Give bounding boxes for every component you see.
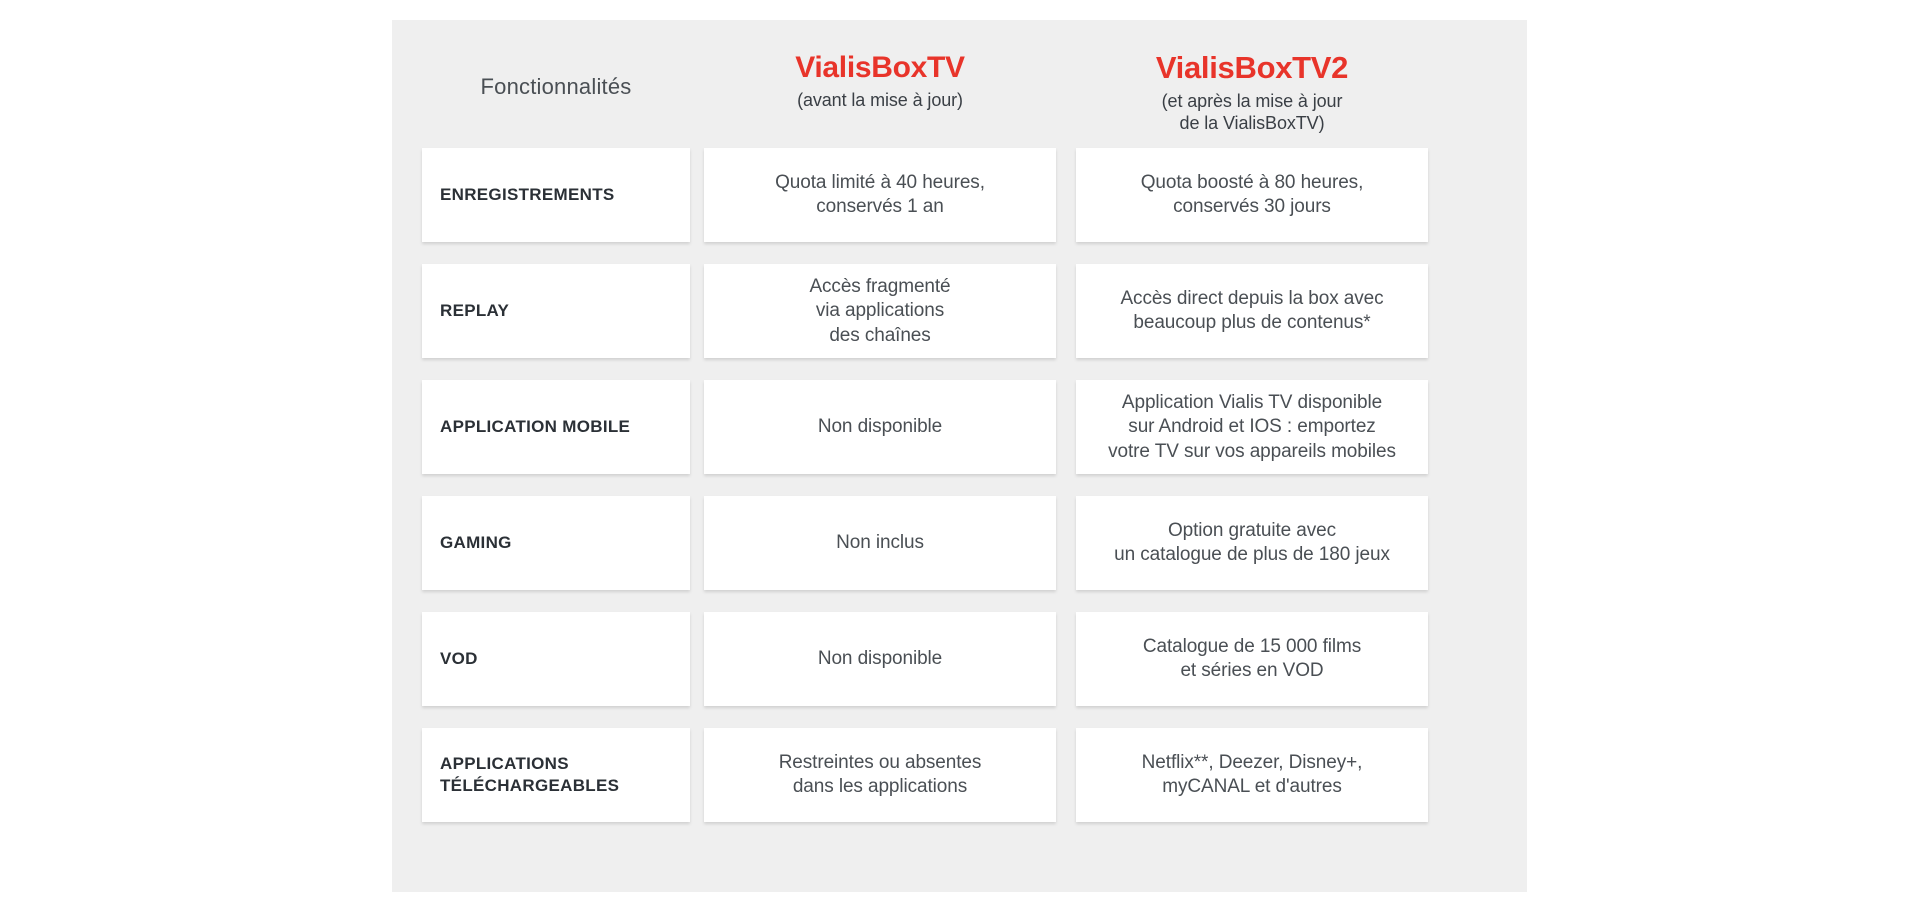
table-row: APPLICATIONS TÉLÉCHARGEABLES Restreintes…: [392, 728, 1527, 822]
feature-cell: ENREGISTREMENTS: [422, 148, 690, 242]
feature-label: VOD: [440, 648, 478, 670]
header-cell-vialisboxtv2: VialisBoxTV2 (et après la mise à jour de…: [1076, 52, 1428, 134]
cell-text: Catalogue de 15 000 films et séries en V…: [1143, 635, 1361, 684]
header-cell-features: Fonctionnalités: [422, 52, 690, 100]
table-row: VOD Non disponible Catalogue de 15 000 f…: [392, 612, 1527, 706]
feature-cell: REPLAY: [422, 264, 690, 358]
table-header-row: Fonctionnalités VialisBoxTV (avant la mi…: [392, 20, 1527, 134]
feature-label: APPLICATIONS TÉLÉCHARGEABLES: [440, 753, 619, 798]
table-body: ENREGISTREMENTS Quota limité à 40 heures…: [392, 148, 1527, 822]
vialisboxtv-cell: Non inclus: [704, 496, 1056, 590]
table-row: REPLAY Accès fragmenté via applications …: [392, 264, 1527, 358]
cell-text: Accès fragmenté via applications des cha…: [809, 275, 950, 348]
vialisboxtv-cell: Restreintes ou absentes dans les applica…: [704, 728, 1056, 822]
cell-text: Netflix**, Deezer, Disney+, myCANAL et d…: [1142, 751, 1363, 800]
cell-text: Quota boosté à 80 heures, conservés 30 j…: [1141, 171, 1364, 220]
vialisboxtv2-cell: Accès direct depuis la box avec beaucoup…: [1076, 264, 1428, 358]
feature-label: GAMING: [440, 532, 512, 554]
table-row: GAMING Non inclus Option gratuite avec u…: [392, 496, 1527, 590]
vialisboxtv-cell: Quota limité à 40 heures, conservés 1 an: [704, 148, 1056, 242]
vialisboxtv2-cell: Application Vialis TV disponible sur And…: [1076, 380, 1428, 474]
features-column-title: Fonctionnalités: [422, 74, 690, 100]
vialisboxtv2-title: VialisBoxTV2: [1076, 52, 1428, 85]
vialisboxtv-cell: Accès fragmenté via applications des cha…: [704, 264, 1056, 358]
cell-text: Restreintes ou absentes dans les applica…: [779, 751, 982, 800]
feature-cell: APPLICATION MOBILE: [422, 380, 690, 474]
vialisboxtv-cell: Non disponible: [704, 380, 1056, 474]
vialisboxtv2-cell: Catalogue de 15 000 films et séries en V…: [1076, 612, 1428, 706]
cell-text: Application Vialis TV disponible sur And…: [1108, 391, 1396, 464]
cell-text: Accès direct depuis la box avec beaucoup…: [1120, 287, 1383, 336]
vialisboxtv-cell: Non disponible: [704, 612, 1056, 706]
cell-text: Non disponible: [818, 415, 942, 439]
feature-label: ENREGISTREMENTS: [440, 184, 615, 206]
cell-text: Option gratuite avec un catalogue de plu…: [1114, 519, 1390, 568]
feature-label: REPLAY: [440, 300, 509, 322]
feature-cell: APPLICATIONS TÉLÉCHARGEABLES: [422, 728, 690, 822]
feature-cell: VOD: [422, 612, 690, 706]
vialisboxtv2-subtitle: (et après la mise à jour de la VialisBox…: [1076, 91, 1428, 135]
table-row: ENREGISTREMENTS Quota limité à 40 heures…: [392, 148, 1527, 242]
feature-label: APPLICATION MOBILE: [440, 416, 630, 438]
vialisboxtv-title: VialisBoxTV: [704, 52, 1056, 84]
vialisboxtv2-cell: Netflix**, Deezer, Disney+, myCANAL et d…: [1076, 728, 1428, 822]
cell-text: Non inclus: [836, 531, 924, 555]
comparison-table-panel: Fonctionnalités VialisBoxTV (avant la mi…: [392, 20, 1527, 892]
feature-cell: GAMING: [422, 496, 690, 590]
cell-text: Quota limité à 40 heures, conservés 1 an: [775, 171, 985, 220]
table-row: APPLICATION MOBILE Non disponible Applic…: [392, 380, 1527, 474]
vialisboxtv2-cell: Quota boosté à 80 heures, conservés 30 j…: [1076, 148, 1428, 242]
vialisboxtv-subtitle: (avant la mise à jour): [704, 90, 1056, 112]
cell-text: Non disponible: [818, 647, 942, 671]
header-cell-vialisboxtv: VialisBoxTV (avant la mise à jour): [704, 52, 1056, 111]
vialisboxtv2-cell: Option gratuite avec un catalogue de plu…: [1076, 496, 1428, 590]
